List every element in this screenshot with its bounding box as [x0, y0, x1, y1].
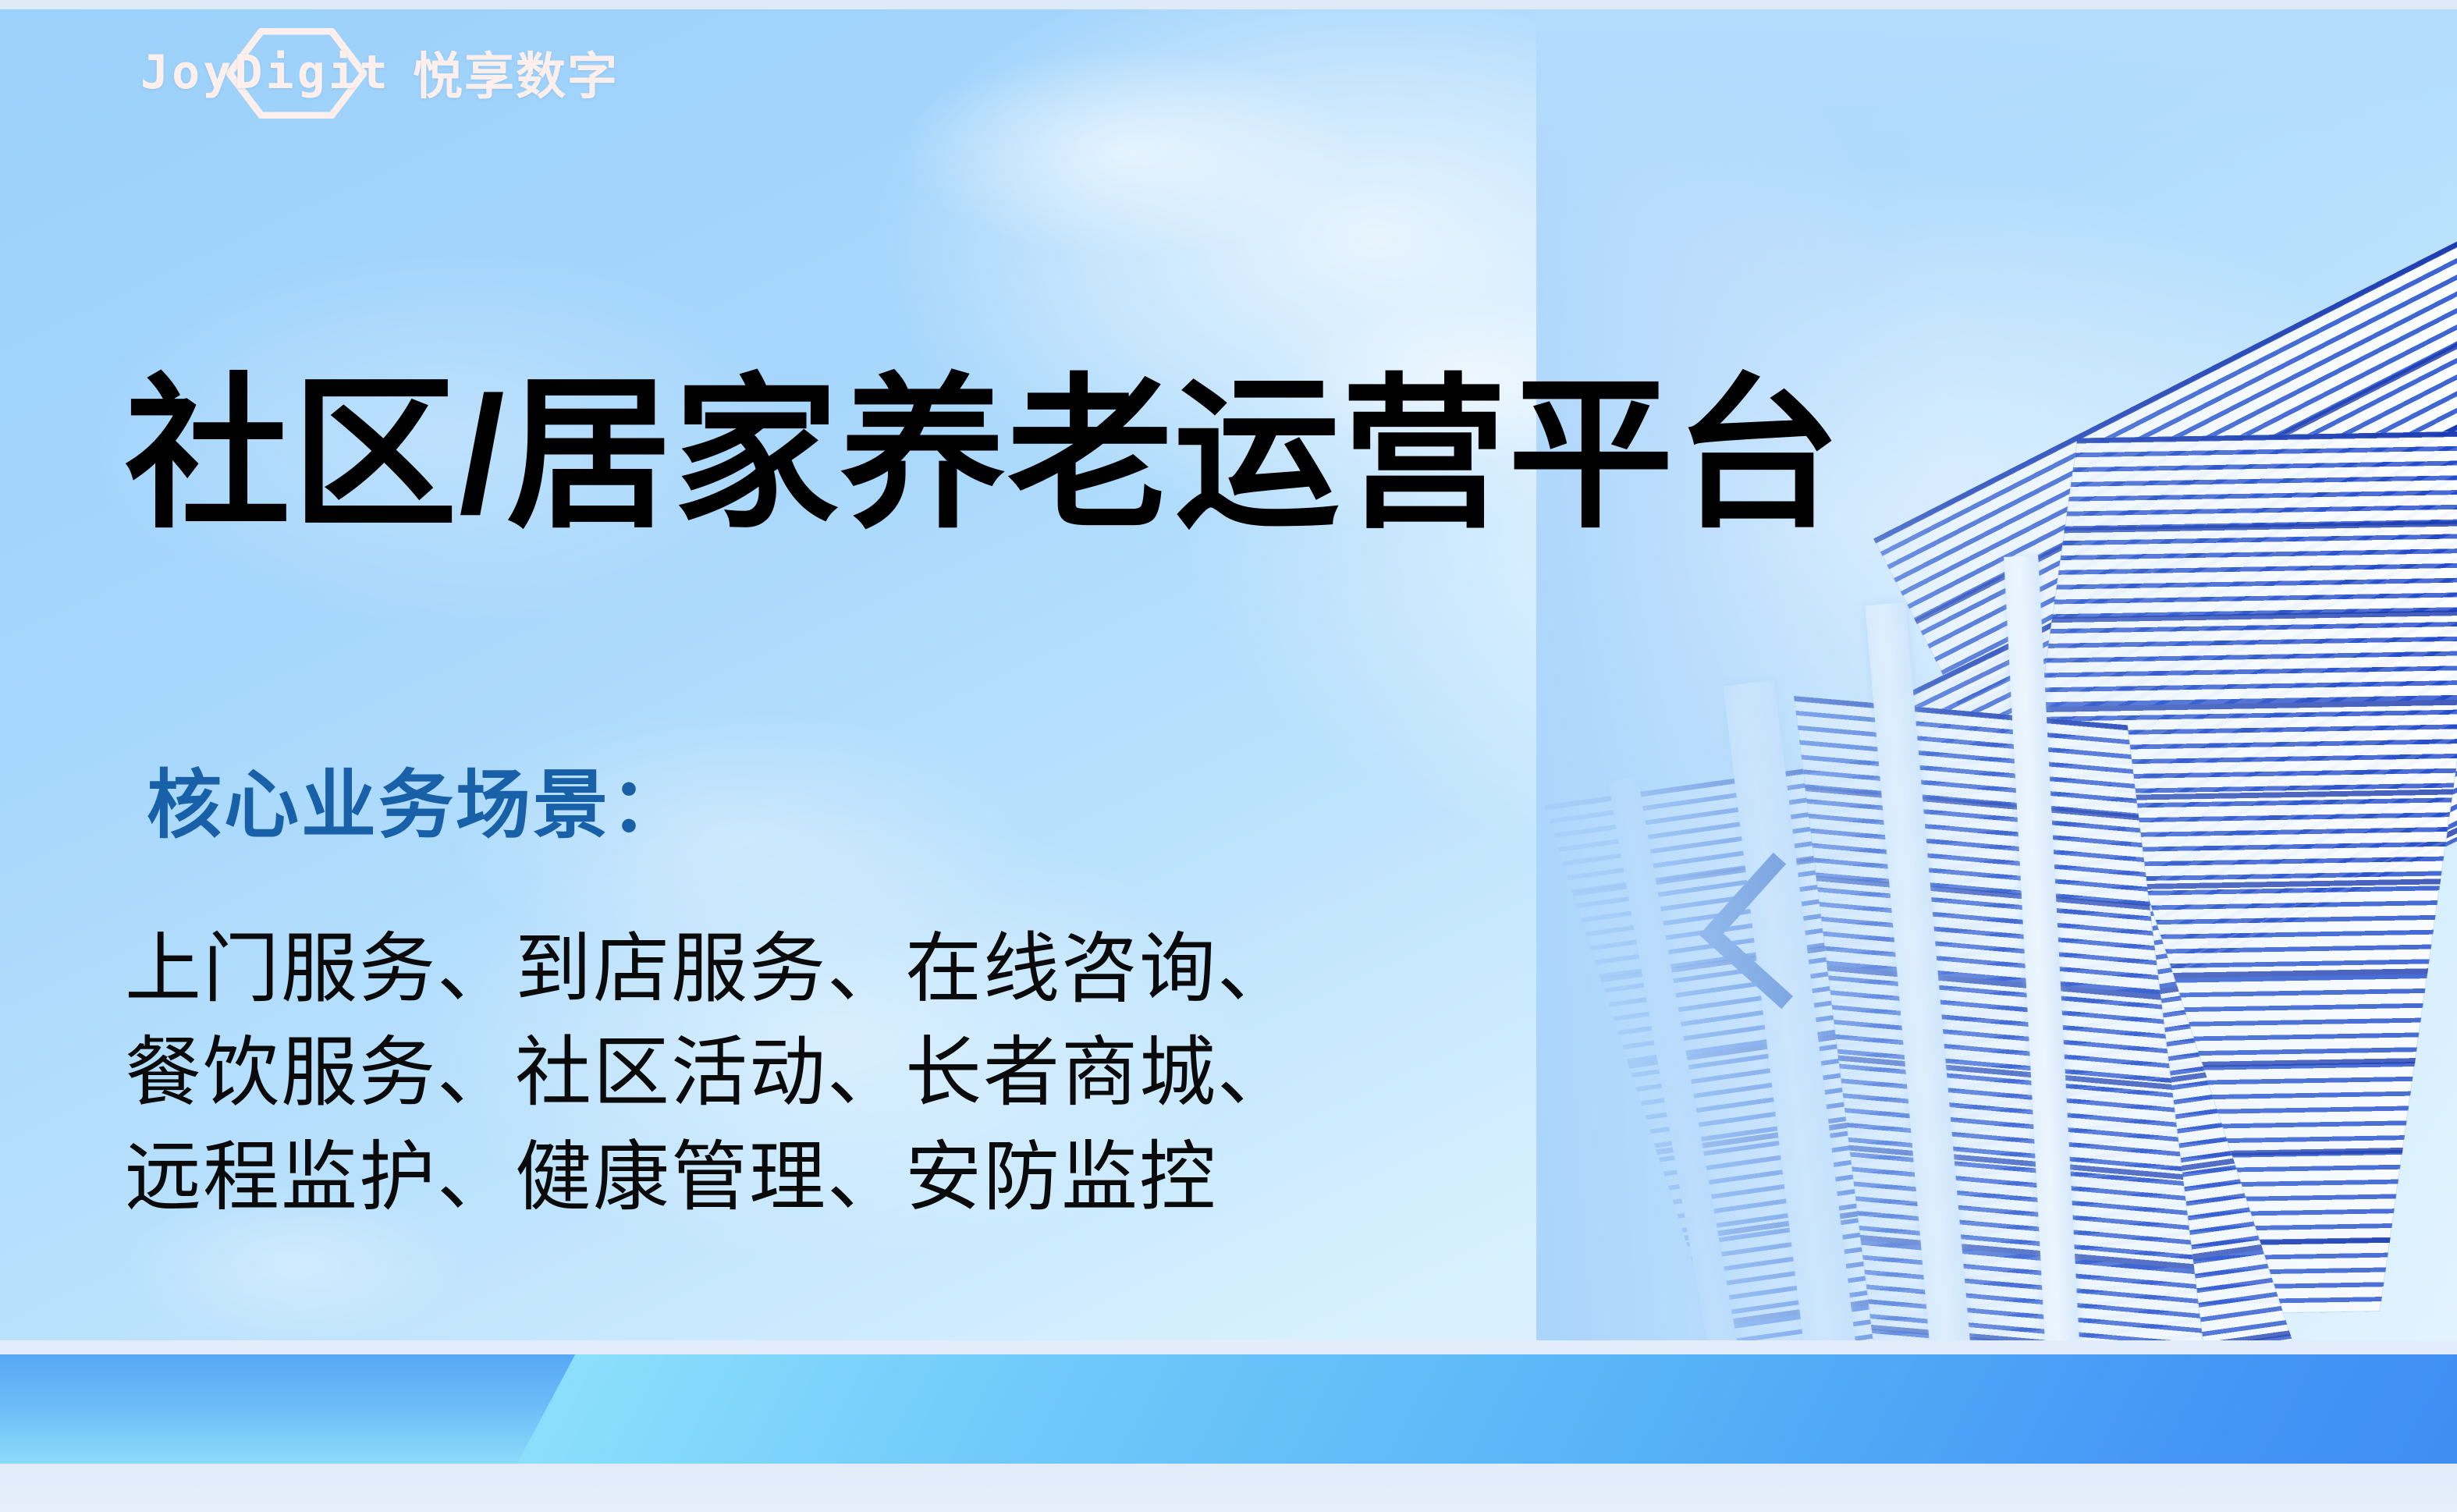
band-parallelogram-right	[517, 1354, 2457, 1464]
section-heading: 核心业务场景：	[147, 765, 687, 847]
page-title: 社区/居家养老运营平台	[125, 368, 1842, 542]
brand-logo: JoyDigit 悦享数字	[140, 30, 619, 115]
photo-top-fade	[1536, 9, 2457, 189]
scenario-list: 上门服务、到店服务、在线咨询、 餐饮服务、社区活动、长者商城、 远程监护、健康管…	[125, 917, 1295, 1229]
slide-root: JoyDigit 悦享数字 社区/居家养老运营平台 核心业务场景： 上门服务、到…	[0, 0, 2457, 1512]
band-parallelogram-left	[0, 1354, 591, 1464]
scenario-line: 上门服务、到店服务、在线咨询、	[125, 917, 1295, 1020]
brand-name-cn: 悦享数字	[413, 37, 619, 108]
scenario-line: 餐饮服务、社区活动、长者商城、	[125, 1020, 1295, 1124]
scenario-line: 远程监护、健康管理、安防监控	[125, 1125, 1295, 1229]
skyscraper-photo	[1536, 9, 2457, 1436]
bottom-decorative-band	[0, 1340, 2457, 1512]
photo-left-fade	[1536, 9, 2457, 1436]
brand-mark-text: JoyDigit	[140, 45, 391, 100]
top-edge-band	[0, 0, 2457, 9]
